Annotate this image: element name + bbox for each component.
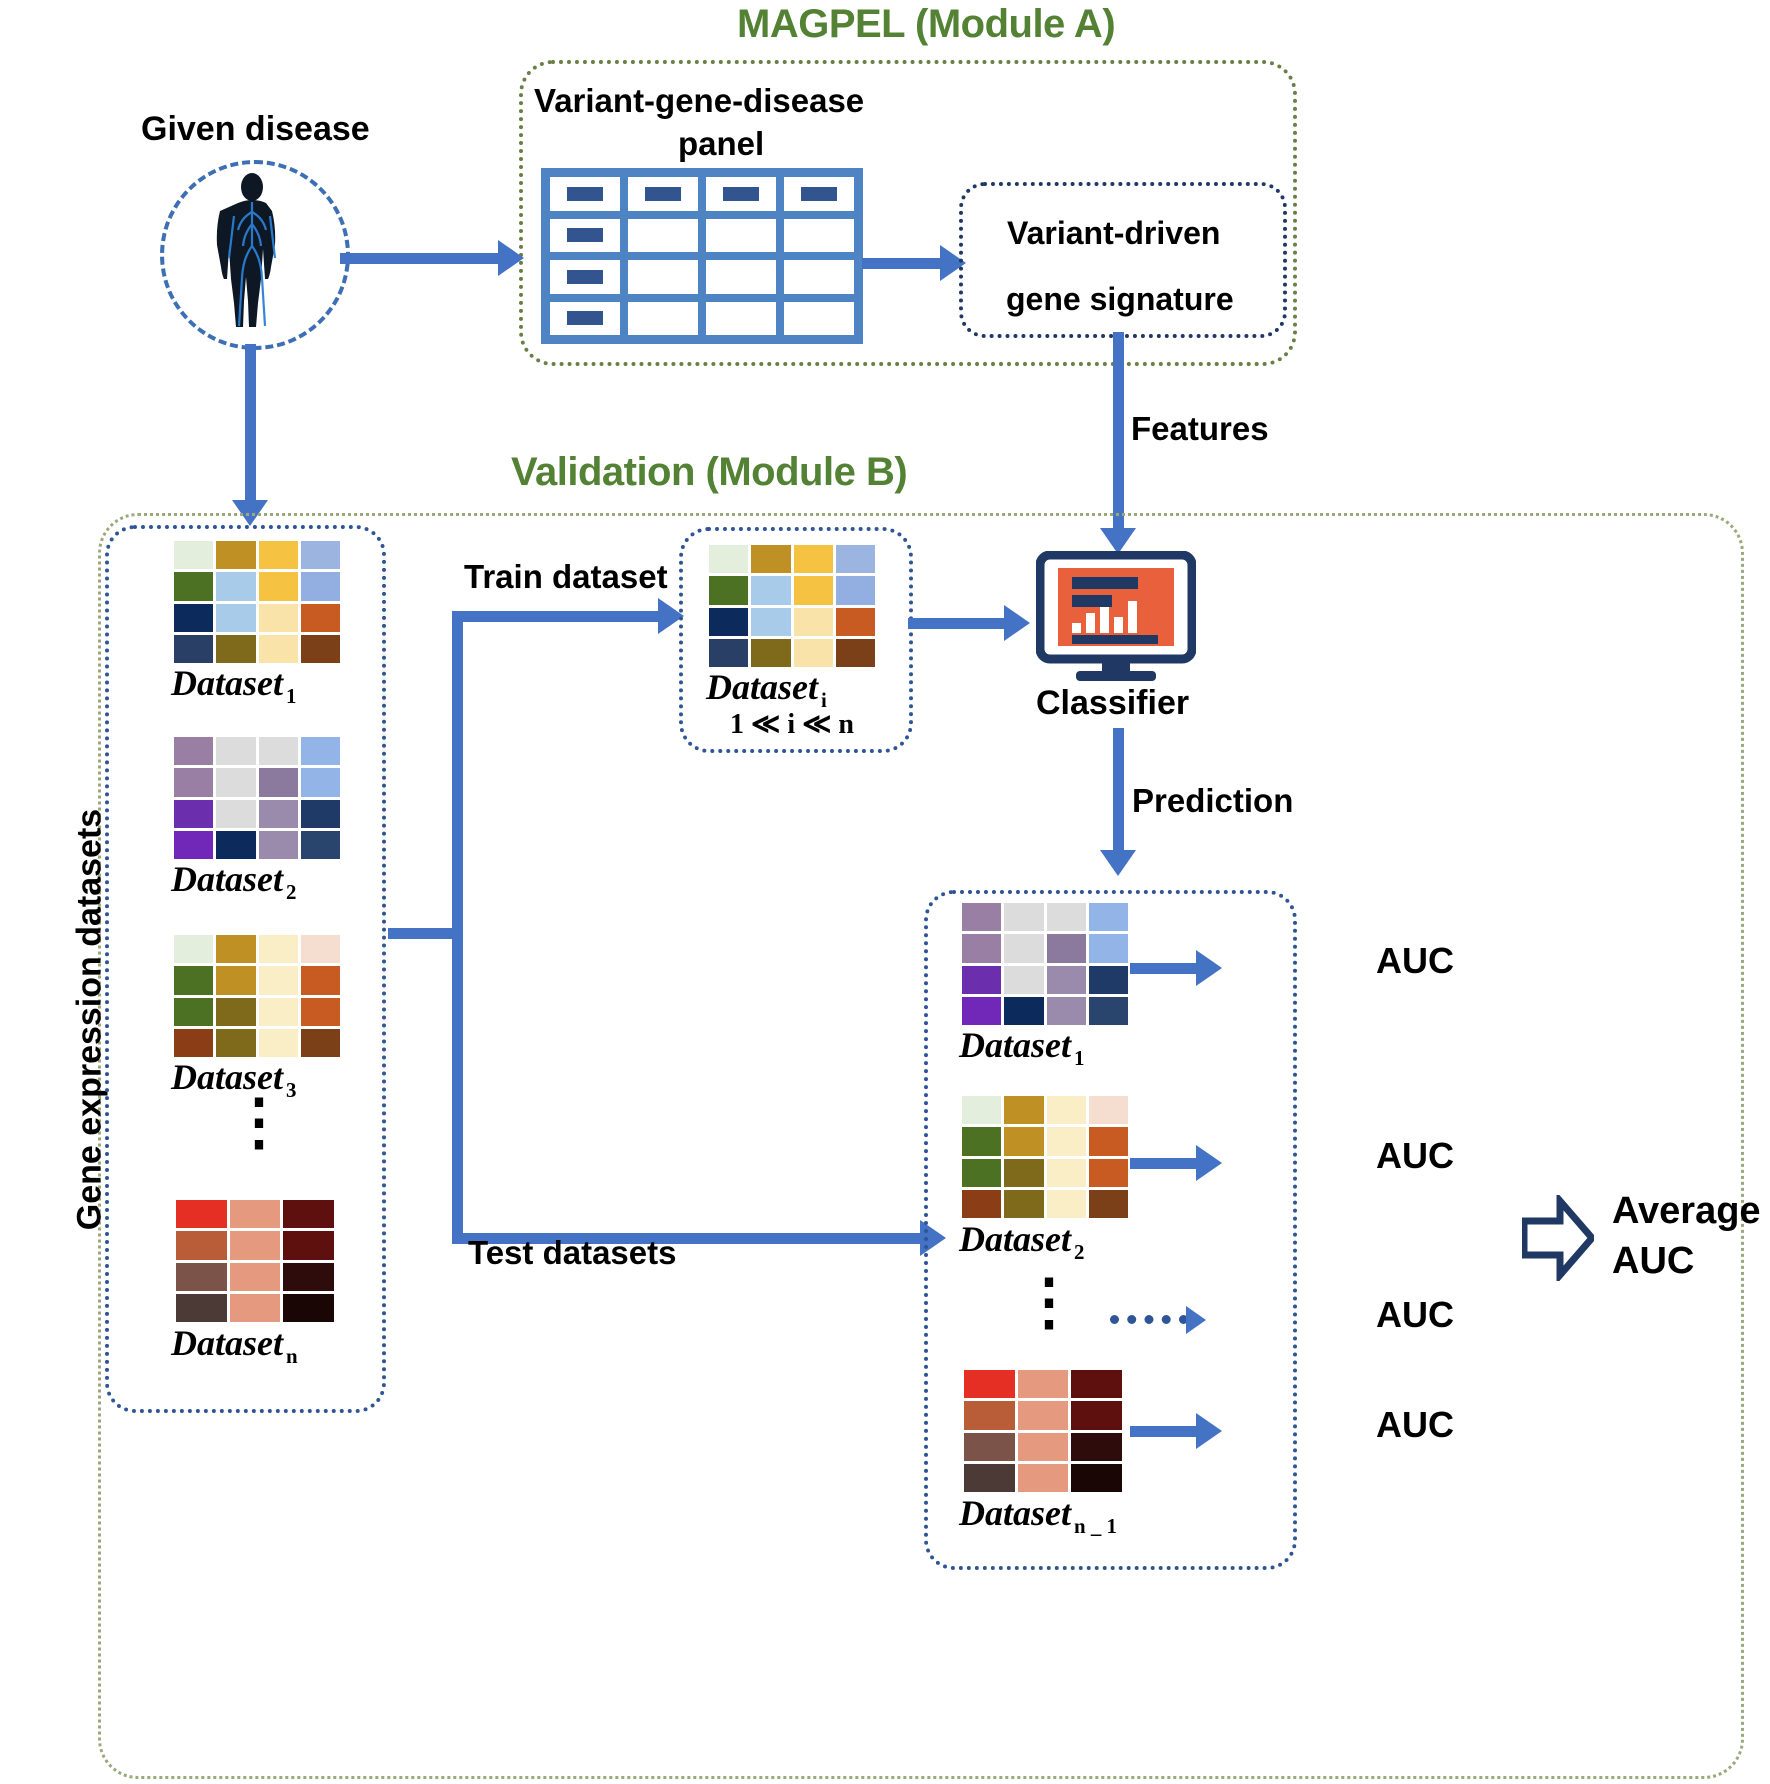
arrow-disease-to-moduleb bbox=[245, 344, 256, 506]
table-cell bbox=[624, 298, 702, 340]
train-dataset-label: Train dataset bbox=[464, 558, 668, 596]
arrow-output-1-to-auc-head bbox=[1196, 950, 1222, 986]
label-subscript: 1 bbox=[286, 684, 296, 708]
arrow-train bbox=[452, 611, 660, 622]
classifier-monitor-icon bbox=[1036, 551, 1196, 691]
table-cell bbox=[702, 173, 780, 215]
output-dataset-2-label: Dataset2 bbox=[959, 1218, 1084, 1260]
arrow-features bbox=[1113, 332, 1124, 534]
heatmap-output-2 bbox=[962, 1096, 1128, 1218]
heatmap-input-1 bbox=[174, 541, 340, 663]
arrow-output-ellipsis-to-auc-head bbox=[1186, 1306, 1206, 1334]
label-subscript: 1 bbox=[1074, 1046, 1084, 1070]
variant-chip bbox=[567, 228, 603, 242]
arrow-output-ellipsis-to-auc bbox=[1110, 1315, 1188, 1324]
arrow-disease-to-panel bbox=[340, 253, 500, 264]
table-cell bbox=[702, 298, 780, 340]
table-cell bbox=[546, 173, 624, 215]
variant-chip bbox=[801, 187, 837, 201]
human-body-icon bbox=[216, 172, 288, 332]
arrow-train-to-classifier-head bbox=[1004, 605, 1030, 641]
heatmap-output-1 bbox=[962, 903, 1128, 1025]
label-text: Dataset bbox=[171, 859, 283, 899]
variant-chip bbox=[723, 187, 759, 201]
arrow-split-riser bbox=[452, 611, 463, 1244]
table-cell bbox=[780, 215, 858, 257]
prediction-label: Prediction bbox=[1132, 782, 1293, 820]
label-text: Dataset bbox=[959, 1025, 1071, 1065]
label-text: Dataset bbox=[959, 1219, 1071, 1259]
gene-signature-line2: gene signature bbox=[1006, 281, 1234, 318]
label-subscript: n _ 1 bbox=[1074, 1514, 1117, 1538]
table-cell bbox=[546, 215, 624, 257]
label-text: Dataset bbox=[706, 667, 818, 707]
panel-label-line1: Variant-gene-disease bbox=[534, 82, 864, 120]
train-dataset-range: 1 ≪ i ≪ n bbox=[730, 707, 854, 741]
arrow-output-n-1-to-auc-head bbox=[1196, 1413, 1222, 1449]
arrow-output-2-to-auc bbox=[1130, 1158, 1198, 1169]
input-dataset-2-label: Dataset2 bbox=[171, 858, 296, 900]
heatmap-input-n bbox=[176, 1200, 334, 1322]
auc-label-4: AUC bbox=[1376, 1404, 1454, 1446]
panel-label-line2: panel bbox=[678, 125, 764, 163]
arrow-output-n-1-to-auc bbox=[1130, 1426, 1198, 1437]
auc-label-2: AUC bbox=[1376, 1135, 1454, 1177]
variant-chip bbox=[645, 187, 681, 201]
arrow-output-2-to-auc-head bbox=[1196, 1145, 1222, 1181]
features-label: Features bbox=[1131, 410, 1269, 448]
variant-chip bbox=[567, 270, 603, 284]
variant-chip bbox=[567, 311, 603, 325]
heatmap-output-n-1 bbox=[964, 1370, 1122, 1492]
arrow-prediction bbox=[1113, 728, 1124, 856]
input-dataset-1-label: Dataset1 bbox=[171, 662, 296, 704]
arrow-split-stem bbox=[388, 928, 460, 939]
module-a-title: MAGPEL (Module A) bbox=[737, 2, 1115, 47]
label-text: Dataset bbox=[171, 663, 283, 703]
average-auc-line1: Average bbox=[1612, 1190, 1761, 1233]
label-subscript: 2 bbox=[1074, 1240, 1084, 1264]
arrow-output-1-to-auc bbox=[1130, 963, 1198, 974]
arrow-train-to-classifier bbox=[908, 618, 1006, 629]
label-text: Dataset bbox=[171, 1323, 283, 1363]
table-cell bbox=[624, 256, 702, 298]
heatmap-input-3 bbox=[174, 935, 340, 1057]
variant-gene-disease-table bbox=[541, 168, 863, 344]
test-datasets-label: Test datasets bbox=[468, 1234, 676, 1272]
heatmap-input-2 bbox=[174, 737, 340, 859]
classifier-label: Classifier bbox=[1036, 684, 1189, 723]
train-dataset-label-text: Dataseti bbox=[706, 666, 827, 708]
arrow-disease-to-panel-head bbox=[498, 240, 524, 276]
table-cell bbox=[702, 256, 780, 298]
average-auc-block-arrow bbox=[1522, 1195, 1594, 1281]
heatmap-train bbox=[709, 545, 875, 667]
arrow-prediction-head bbox=[1100, 850, 1136, 876]
gene-signature-line1: Variant-driven bbox=[1007, 215, 1220, 252]
input-datasets-ellipsis: ⋮ bbox=[228, 1110, 268, 1136]
table-cell bbox=[546, 298, 624, 340]
output-dataset-n-1-label: Datasetn _ 1 bbox=[959, 1492, 1117, 1534]
module-b-title: Validation (Module B) bbox=[511, 450, 907, 495]
label-subscript: 2 bbox=[286, 880, 296, 904]
output-dataset-1-label: Dataset1 bbox=[959, 1024, 1084, 1066]
table-cell bbox=[624, 215, 702, 257]
auc-label-1: AUC bbox=[1376, 940, 1454, 982]
output-datasets-ellipsis: ⋮ bbox=[1018, 1290, 1058, 1316]
given-disease-label: Given disease bbox=[141, 110, 370, 149]
arrow-panel-to-signature bbox=[862, 258, 942, 269]
gene-expression-datasets-label: Gene expression datasets bbox=[71, 760, 110, 1280]
table-cell bbox=[546, 256, 624, 298]
label-subscript: n bbox=[286, 1344, 298, 1368]
variant-chip bbox=[567, 187, 603, 201]
table-cell bbox=[780, 173, 858, 215]
table-cell bbox=[780, 256, 858, 298]
input-dataset-n-label: Datasetn bbox=[171, 1322, 298, 1364]
auc-label-3: AUC bbox=[1376, 1294, 1454, 1336]
label-text: Dataset bbox=[959, 1493, 1071, 1533]
average-auc-line2: AUC bbox=[1612, 1240, 1694, 1283]
table-cell bbox=[624, 173, 702, 215]
table-cell bbox=[702, 215, 780, 257]
table-cell bbox=[780, 298, 858, 340]
